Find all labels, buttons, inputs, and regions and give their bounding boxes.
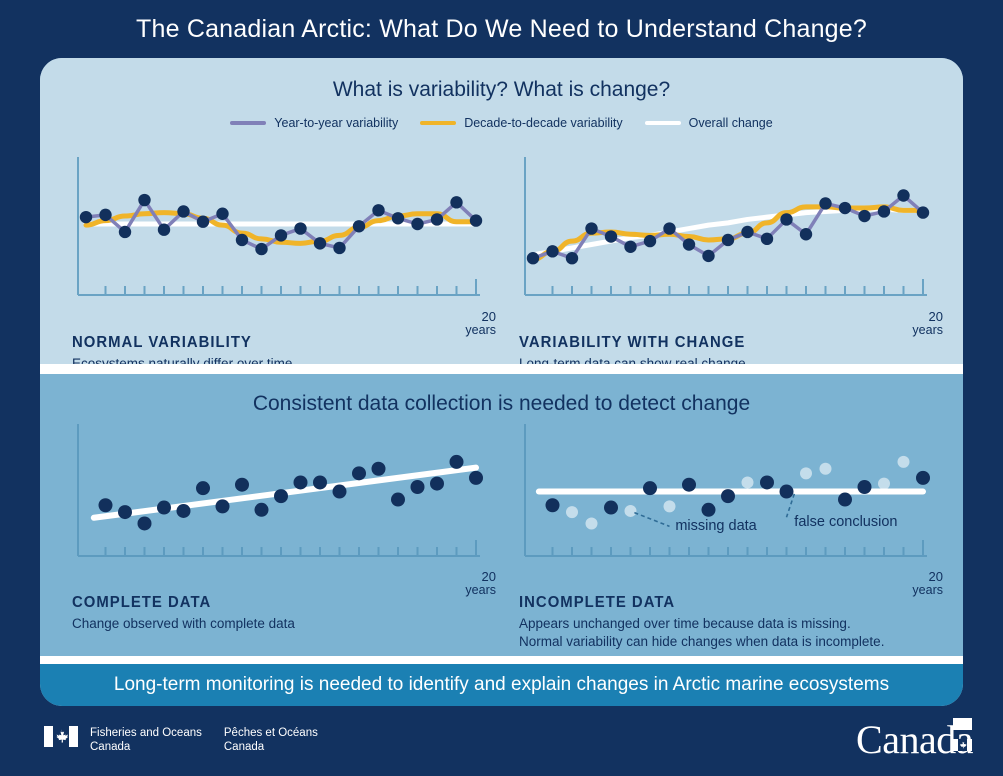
panel-data-collection: Consistent data collection is needed to …: [40, 374, 963, 656]
chart-plot-complete-data: [72, 420, 490, 588]
axis-end-label-2: 20 years: [912, 310, 943, 338]
header: The Canadian Arctic: What Do We Need to …: [0, 0, 1003, 58]
canada-flag-icon: [44, 726, 78, 747]
svg-variability-with-change: [519, 153, 937, 328]
chart-subtitle-3: Change observed with complete data: [72, 615, 490, 633]
legend-item-year-to-year: Year-to-year variability: [230, 116, 398, 130]
panel-divider-1: [40, 364, 963, 374]
legend-label-overall-change: Overall change: [689, 116, 773, 130]
charts-row-bottom: 20 years COMPLETE DATA Change observed w…: [40, 420, 963, 651]
federal-identity-program: Fisheries and OceansCanada Pêches et Océ…: [44, 726, 318, 755]
chart-name-4: INCOMPLETE DATA: [519, 594, 908, 612]
legend-swatch-decade-to-decade: [420, 121, 456, 125]
canada-wordmark: Canada: [856, 720, 973, 760]
panel-divider-2: [40, 656, 963, 664]
annotation-missing-data: missing data: [675, 518, 757, 534]
infographic-page: The Canadian Arctic: What Do We Need to …: [0, 0, 1003, 776]
banner-long-term-monitoring: Long-term monitoring is needed to identi…: [40, 664, 963, 706]
axis-years-number-1: 20: [465, 310, 496, 324]
chart-incomplete-data: missing datafalse conclusion 20 years IN…: [501, 420, 962, 651]
section-title-top: What is variability? What is change?: [40, 58, 963, 102]
legend-swatch-year-to-year: [230, 121, 266, 125]
section-title-mid: Consistent data collection is needed to …: [40, 374, 963, 416]
charts-row-top: 20 years NORMAL VARIABILITY Ecosystems n…: [40, 153, 963, 373]
data-points: [527, 189, 929, 264]
content-card: What is variability? What is change? Yea…: [40, 58, 963, 706]
chart-variability-with-change: 20 years VARIABILITY WITH CHANGE Long-te…: [501, 153, 962, 373]
svg-complete-data: [72, 420, 490, 588]
axis-years-number-4: 20: [912, 570, 943, 584]
svg-normal-variability: [72, 153, 490, 328]
chart-name-3: COMPLETE DATA: [72, 594, 461, 612]
caption-complete-data: 20 years COMPLETE DATA Change observed w…: [72, 594, 490, 633]
caption-incomplete-data: 20 years INCOMPLETE DATA Appears unchang…: [519, 594, 937, 651]
chart-name-1: NORMAL VARIABILITY: [72, 334, 461, 352]
chart-normal-variability: 20 years NORMAL VARIABILITY Ecosystems n…: [40, 153, 501, 373]
axis-years-unit-2: years: [912, 323, 943, 337]
legend-swatch-overall-change: [645, 121, 681, 125]
banner-text: Long-term monitoring is needed to identi…: [114, 674, 889, 696]
chart-complete-data: 20 years COMPLETE DATA Change observed w…: [40, 420, 501, 651]
axis-group: [525, 157, 927, 295]
axis-end-label-3: 20 years: [465, 570, 496, 598]
department-name-fr: Pêches et OcéansCanada: [224, 726, 318, 755]
legend-label-year-to-year: Year-to-year variability: [274, 116, 398, 130]
panel-variability: What is variability? What is change? Yea…: [40, 58, 963, 364]
chart-plot-normal-variability: [72, 153, 490, 328]
axis-years-unit-3: years: [465, 583, 496, 597]
legend-item-decade-to-decade: Decade-to-decade variability: [420, 116, 622, 130]
department-name-en: Fisheries and OceansCanada: [90, 726, 202, 755]
axis-years-number-2: 20: [912, 310, 943, 324]
chart-plot-variability-with-change: [519, 153, 937, 328]
legend-label-decade-to-decade: Decade-to-decade variability: [464, 116, 622, 130]
axis-years-unit-4: years: [912, 583, 943, 597]
wordmark-flag-icon: [953, 718, 972, 730]
axis-end-label-1: 20 years: [465, 310, 496, 338]
axis-years-number-3: 20: [465, 570, 496, 584]
axis-end-label-4: 20 years: [912, 570, 943, 598]
chart-legend: Year-to-year variability Decade-to-decad…: [40, 116, 963, 130]
footer: Fisheries and OceansCanada Pêches et Océ…: [0, 706, 1003, 776]
axis-years-unit-1: years: [465, 323, 496, 337]
chart-subtitle-4: Appears unchanged over time because data…: [519, 615, 937, 651]
page-title: The Canadian Arctic: What Do We Need to …: [136, 15, 867, 44]
annotation-false-conclusion: false conclusion: [794, 514, 897, 530]
svg-incomplete-data: missing datafalse conclusion: [519, 420, 937, 588]
chart-plot-incomplete-data: missing datafalse conclusion: [519, 420, 937, 588]
chart-name-2: VARIABILITY WITH CHANGE: [519, 334, 908, 352]
department-names: Fisheries and OceansCanada Pêches et Océ…: [90, 726, 318, 755]
annotation-group: missing datafalse conclusion: [634, 494, 897, 534]
legend-item-overall-change: Overall change: [645, 116, 773, 130]
